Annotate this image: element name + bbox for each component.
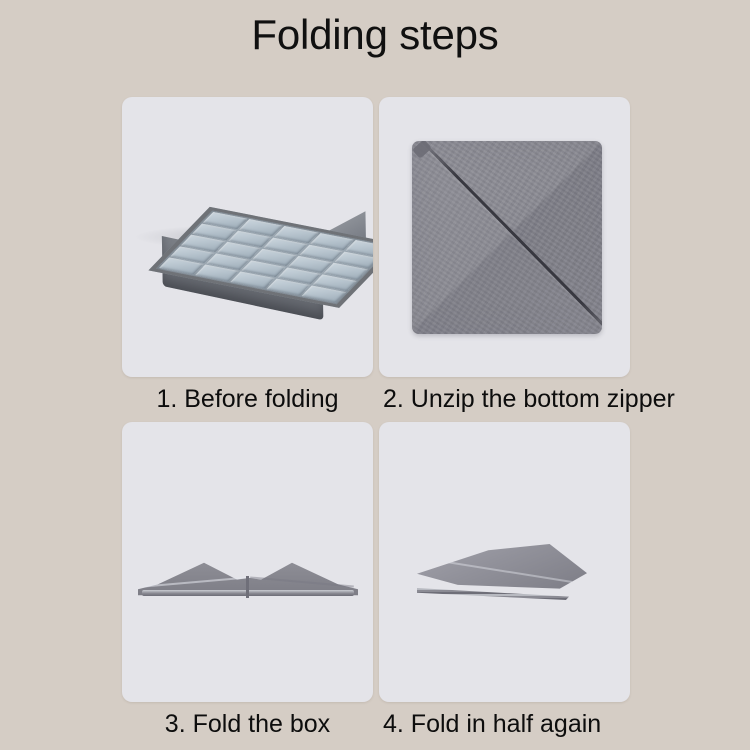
- folding-steps-page: Folding steps: [0, 0, 750, 750]
- steps-grid: 1. Before folding 2. Unzip the bottom zi…: [122, 97, 630, 747]
- peak-center-split: [246, 576, 249, 598]
- photo-flat-square[interactable]: [379, 97, 630, 377]
- box-body: [139, 167, 360, 321]
- step-caption-4: 4. Fold in half again: [379, 702, 630, 747]
- step-card-4: 4. Fold in half again: [379, 422, 630, 747]
- bundle-layered-edge: [417, 588, 569, 600]
- folded-bundle-illustration: [417, 544, 587, 606]
- photo-divider-box[interactable]: [122, 97, 373, 377]
- step-caption-1: 1. Before folding: [122, 377, 373, 422]
- step-card-3: 3. Fold the box: [122, 422, 373, 747]
- flat-square-illustration: [412, 141, 602, 334]
- step-caption-3: 3. Fold the box: [122, 702, 373, 747]
- step-card-2: 2. Unzip the bottom zipper: [379, 97, 630, 422]
- step-caption-2: 2. Unzip the bottom zipper: [379, 377, 630, 422]
- photo-folded-bundle[interactable]: [379, 422, 630, 702]
- folded-peaks-illustration: [138, 540, 358, 600]
- photo-folded-peaks[interactable]: [122, 422, 373, 702]
- step-card-1: 1. Before folding: [122, 97, 373, 422]
- divider-box-illustration: [122, 97, 373, 377]
- page-title: Folding steps: [0, 9, 750, 61]
